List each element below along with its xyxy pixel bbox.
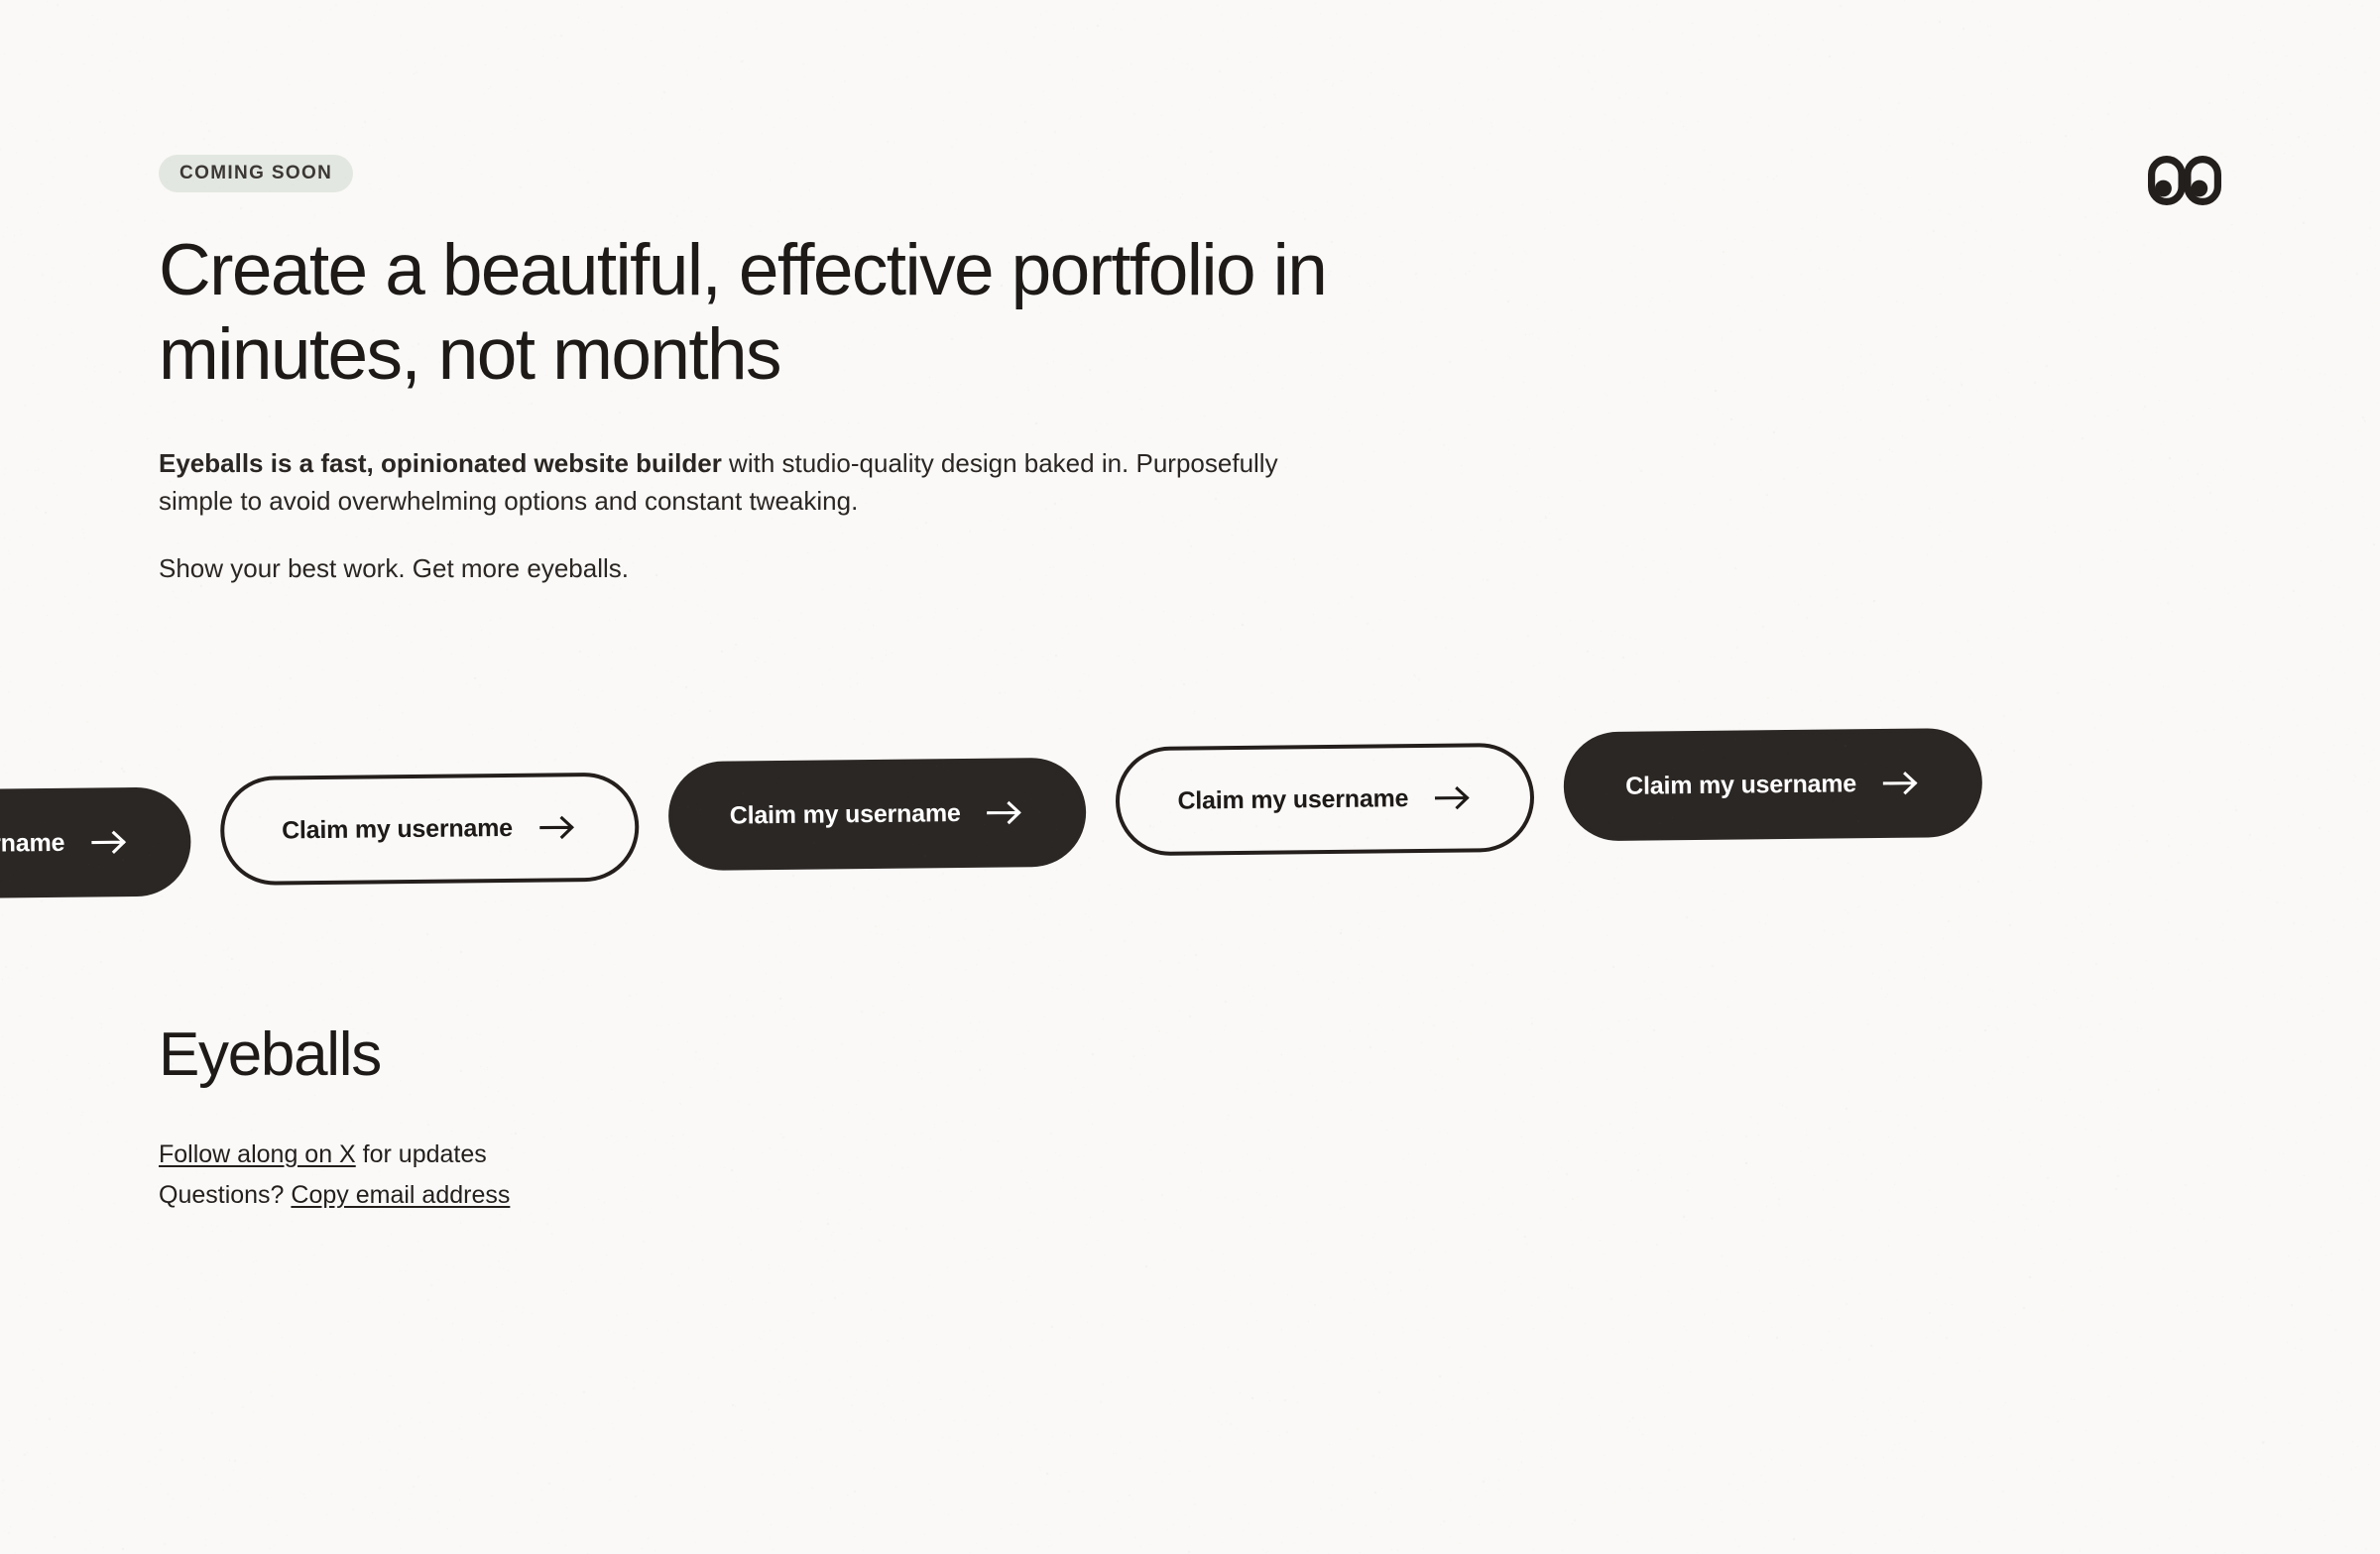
claim-username-label: Claim my username: [282, 813, 513, 845]
hero-description: Eyeballs is a fast, opinionated website …: [159, 445, 1329, 521]
claim-username-button[interactable]: Claim my username: [1564, 728, 1983, 842]
claim-username-button[interactable]: Claim my username: [1116, 743, 1535, 857]
questions-label: Questions?: [159, 1181, 291, 1209]
arrow-right-icon: [91, 830, 129, 854]
brand-wordmark: Eyeballs: [159, 1021, 1349, 1089]
footer-section: Eyeballs Follow along on X for updates Q…: [159, 1021, 1349, 1217]
claim-username-label: Claim my username: [730, 799, 961, 831]
claim-username-marquee: Claim my username Claim my username Clai…: [0, 694, 2380, 922]
status-badge: COMING SOON: [159, 155, 353, 192]
follow-on-x-link[interactable]: Follow along on X: [159, 1140, 356, 1168]
claim-username-button[interactable]: Claim my username: [220, 773, 640, 887]
hero-section: COMING SOON Create a beautiful, effectiv…: [159, 155, 1646, 588]
claim-username-button[interactable]: Claim my username: [667, 758, 1087, 872]
claim-username-button[interactable]: Claim my username: [0, 786, 191, 900]
arrow-right-icon: [1883, 772, 1921, 795]
follow-suffix-text: for updates: [356, 1140, 487, 1168]
copy-email-address-link[interactable]: Copy email address: [291, 1181, 510, 1209]
marquee-track: Claim my username Claim my username Clai…: [0, 694, 1983, 922]
right-eye-icon: [2188, 160, 2218, 202]
hero-description-lead: Eyeballs is a fast, opinionated website …: [159, 448, 722, 478]
claim-username-label: Claim my username: [0, 828, 64, 860]
arrow-right-icon: [1435, 785, 1473, 809]
footer-links: Follow along on X for updates Questions?…: [159, 1135, 1349, 1217]
footer-line-questions: Questions? Copy email address: [159, 1175, 1349, 1216]
claim-username-label: Claim my username: [1177, 784, 1408, 816]
arrow-right-icon: [539, 815, 577, 839]
eyeballs-logo[interactable]: [2148, 156, 2221, 205]
arrow-right-icon: [987, 800, 1024, 824]
hero-tagline: Show your best work. Get more eyeballs.: [159, 550, 1646, 588]
footer-line-follow: Follow along on X for updates: [159, 1135, 1349, 1175]
claim-username-label: Claim my username: [1625, 770, 1856, 801]
page-title: Create a beautiful, effective portfolio …: [159, 229, 1408, 397]
left-eye-icon: [2152, 160, 2183, 202]
